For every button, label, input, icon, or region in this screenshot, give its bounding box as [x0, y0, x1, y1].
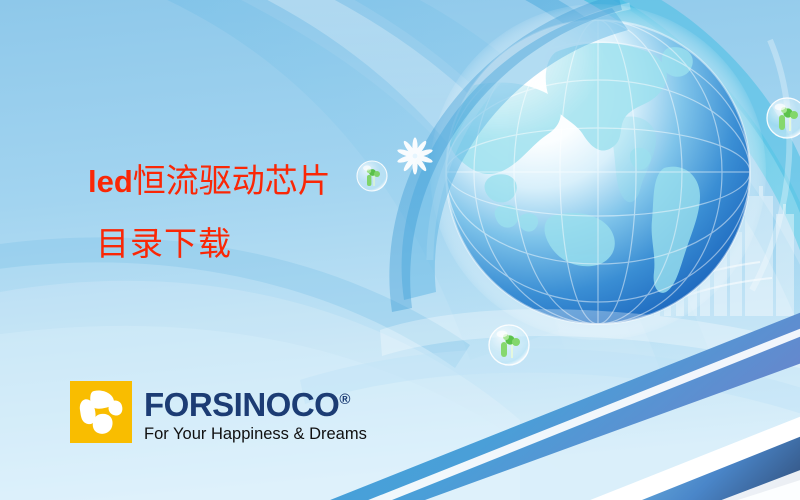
headline-line-1-cjk: 恒流驱动芯片 [133, 161, 331, 200]
headline-line-1-latin: led [88, 164, 133, 199]
logo-text-group: FORSINOCO® For Your Happiness & Dreams [144, 381, 367, 444]
banner-canvas: led恒流驱动芯片 目录下载 FORSINOCO® For Your Happi… [0, 0, 800, 500]
registered-trademark-icon: ® [339, 391, 350, 408]
four-petal-flower-icon [70, 381, 132, 443]
bubble-seedling-right [767, 98, 800, 138]
headline-block: led恒流驱动芯片 目录下载 [0, 160, 430, 265]
logo-wordmark: FORSINOCO® [144, 383, 367, 421]
bubble-seedling-lower [489, 325, 529, 365]
logo-tagline: For Your Happiness & Dreams [144, 424, 367, 444]
brand-logo[interactable]: FORSINOCO® For Your Happiness & Dreams [70, 381, 367, 444]
headline-line-1: led恒流驱动芯片 [0, 160, 430, 203]
headline-line-2: 目录下载 [0, 223, 430, 265]
logo-wordmark-text: FORSINOCO [144, 386, 339, 423]
